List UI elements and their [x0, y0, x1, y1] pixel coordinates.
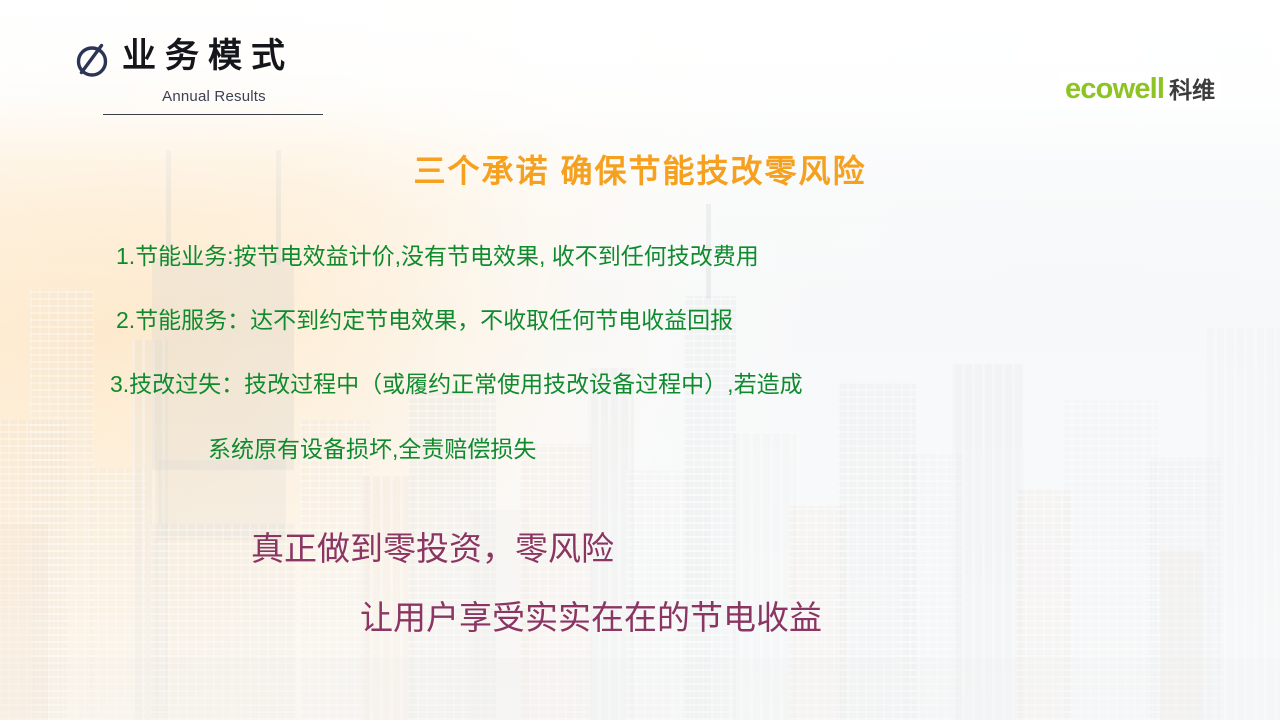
- commitment-item-3: 3.技改过失：技改过程中（或履约正常使用技改设备过程中）,若造成: [110, 369, 803, 399]
- page-subtitle: Annual Results: [103, 88, 325, 105]
- conclusion-line-2: 让用户享受实实在在的节电收益: [360, 599, 822, 639]
- title-divider: [103, 114, 323, 115]
- commitment-item-2: 2.节能服务：达不到约定节电效果，不收取任何节电收益回报: [116, 305, 733, 335]
- brand-logo-chinese: 科维: [1169, 79, 1215, 102]
- brand-logo: ecowell 科维: [1058, 72, 1222, 108]
- commitment-item-1: 1.节能业务:按节电效益计价,没有节电效果, 收不到任何技改费用: [116, 241, 759, 271]
- commitment-item-3-continued: 系统原有设备损坏,全责赔偿损失: [208, 434, 536, 464]
- page-title: 业务模式: [122, 34, 294, 78]
- null-slash-icon: [70, 38, 114, 82]
- slide-canvas: 业务模式 Annual Results ecowell 科维 三个承诺 确保节能…: [0, 0, 1280, 720]
- conclusion-line-1: 真正做到零投资，零风险: [251, 530, 614, 570]
- brand-logo-english: ecowell: [1065, 75, 1164, 104]
- section-headline: 三个承诺 确保节能技改零风险: [0, 146, 1280, 192]
